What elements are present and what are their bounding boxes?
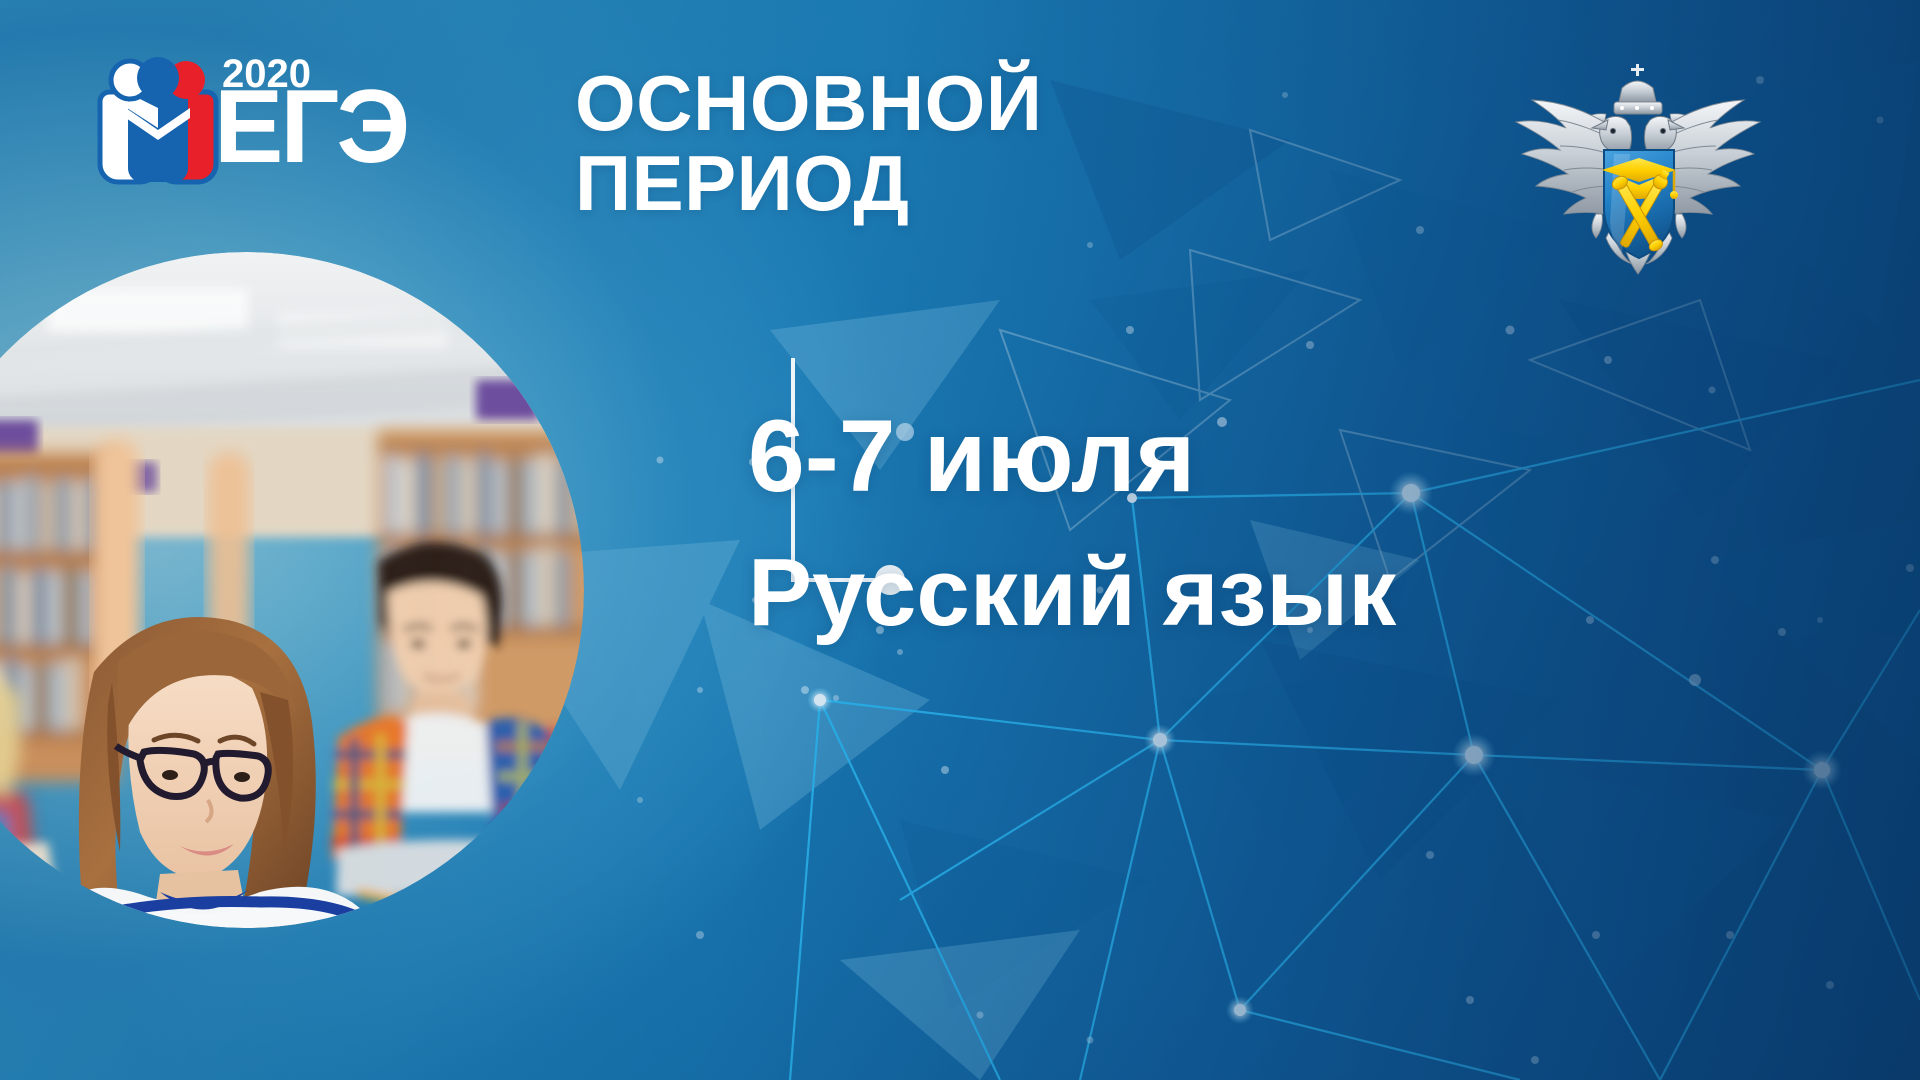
ege-2020-logo: 2020 ЕГЭ (86, 52, 416, 192)
poster-canvas: 2020 ЕГЭ ОСНОВНОЙ ПЕРИОД 6-7 июля Русски… (0, 0, 1920, 1080)
exam-subject: Русский язык (748, 538, 1396, 648)
page-title: ОСНОВНОЙ ПЕРИОД (575, 64, 1042, 223)
rosobrnadzor-emblem (1510, 58, 1770, 278)
crown-icon (1614, 64, 1662, 114)
students-photo (0, 252, 584, 928)
double-headed-eagle-icon (1510, 58, 1770, 278)
exam-date: 6-7 июля (748, 398, 1195, 515)
library-scene-illustration (0, 252, 584, 928)
ege-logo-abbreviation: ЕГЭ (214, 80, 407, 176)
